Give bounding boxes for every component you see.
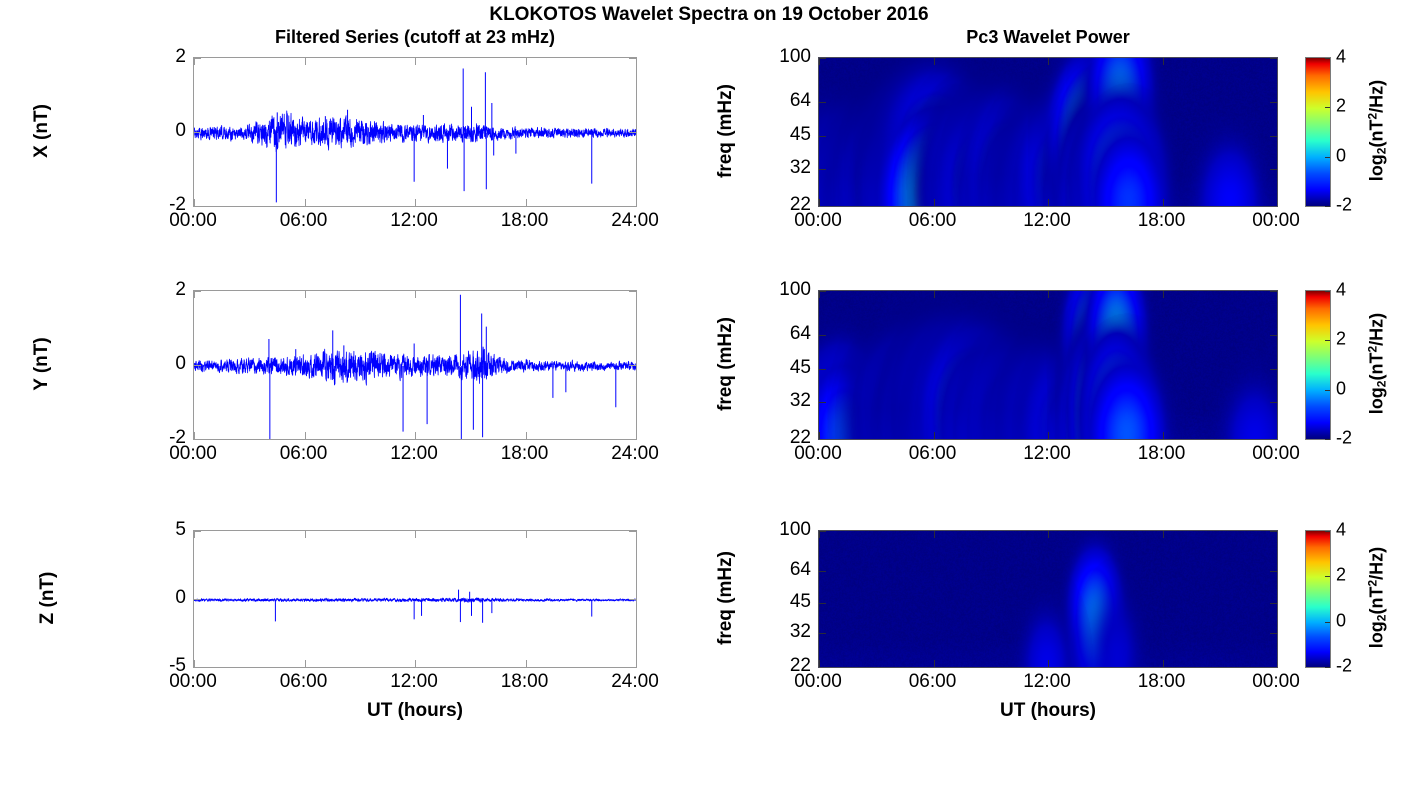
x-tick-mark [1163,199,1164,206]
y-tick-mark [1270,402,1277,403]
x-tick-label: 00:00 [1252,443,1300,465]
spectrogram-axes-x [818,57,1278,207]
x-tick-mark [1277,291,1278,298]
y-tick-mark [819,369,826,370]
colorbar-tick-mark [1325,340,1330,341]
x-tick-mark [819,58,820,65]
y-tick-label: -2 [141,194,186,216]
y-axis-label-z: Z (nT) [37,529,59,667]
figure-canvas: KLOKOTOS Wavelet Spectra on 19 October 2… [0,0,1418,788]
x-tick-mark [934,432,935,439]
x-tick-mark [1277,660,1278,667]
y-axis-label-y: Y (nT) [31,289,53,439]
x-axis-label-left: UT (hours) [193,700,637,722]
x-tick-mark [194,58,195,65]
timeseries-axes-z [193,530,637,668]
y-tick-mark [194,291,201,292]
y-tick-label: 2 [141,279,186,301]
freq-tick-label: 32 [758,157,811,179]
freq-tick-label: 32 [758,390,811,412]
x-tick-mark [934,660,935,667]
x-tick-mark [1048,291,1049,298]
y-tick-mark [629,531,636,532]
spectrogram-axes-y [818,290,1278,440]
timeseries-axes-x [193,57,637,207]
freq-tick-label: 45 [758,591,811,613]
freq-tick-label: 100 [758,519,811,541]
y-tick-mark [1270,439,1277,440]
y-tick-mark [819,633,826,634]
x-tick-mark [305,660,306,667]
colorbar-tick-label: 4 [1336,520,1346,541]
y-tick-label: 0 [141,587,186,609]
y-tick-mark [819,102,826,103]
x-tick-mark [934,531,935,538]
y-tick-mark [194,206,201,207]
colorbar-tick-mark [1325,439,1330,440]
x-tick-mark [636,660,637,667]
x-tick-mark [1277,199,1278,206]
x-tick-label: 18:00 [1138,210,1186,232]
x-tick-mark [526,531,527,538]
y-axis-label-x: X (nT) [31,56,53,206]
colorbar-tick-mark [1325,291,1330,292]
colorbar-y [1305,290,1331,440]
x-tick-label: 06:00 [909,443,957,465]
colorbar-tick-mark [1325,107,1330,108]
x-tick-mark [636,531,637,538]
y-tick-mark [194,132,201,133]
x-tick-mark [1048,199,1049,206]
spectrogram-image [819,58,1277,206]
freq-tick-label: 22 [758,655,811,677]
x-tick-mark [415,432,416,439]
freq-tick-label: 100 [758,46,811,68]
x-tick-mark [819,660,820,667]
x-tick-label: 12:00 [390,671,438,693]
y-tick-mark [819,603,826,604]
colorbar-tick-label: 0 [1336,378,1346,399]
freq-tick-label: 100 [758,279,811,301]
x-tick-mark [194,660,195,667]
x-tick-mark [305,432,306,439]
x-tick-mark [194,432,195,439]
y-tick-mark [1270,633,1277,634]
x-tick-label: 00:00 [1252,210,1300,232]
right-column-title: Pc3 Wavelet Power [818,27,1278,48]
y-tick-mark [819,291,826,292]
y-tick-label: 5 [141,519,186,541]
colorbar-tick-label: -2 [1336,428,1352,449]
x-tick-mark [1163,432,1164,439]
x-tick-mark [636,199,637,206]
x-tick-mark [636,291,637,298]
x-tick-mark [305,531,306,538]
x-tick-mark [1048,531,1049,538]
freq-tick-label: 22 [758,427,811,449]
x-tick-mark [415,531,416,538]
x-tick-mark [194,291,195,298]
y-tick-mark [629,667,636,668]
x-axis-label-right: UT (hours) [818,700,1278,722]
colorbar-tick-label: 4 [1336,47,1346,68]
colorbar-tick-mark [1325,58,1330,59]
y-tick-label: 2 [141,46,186,68]
freq-axis-label-x: freq (mHz) [715,56,737,206]
colorbar-z [1305,530,1331,668]
y-tick-mark [629,439,636,440]
x-tick-mark [1277,58,1278,65]
x-tick-label: 18:00 [1138,443,1186,465]
x-tick-mark [819,432,820,439]
x-tick-mark [526,660,527,667]
y-tick-mark [819,571,826,572]
x-tick-label: 12:00 [1023,443,1071,465]
x-tick-mark [1048,660,1049,667]
x-tick-mark [194,199,195,206]
y-tick-label: -5 [141,655,186,677]
x-tick-mark [415,291,416,298]
x-tick-mark [526,58,527,65]
x-tick-label: 12:00 [1023,210,1071,232]
y-tick-mark [819,667,826,668]
y-tick-mark [629,58,636,59]
x-tick-mark [194,531,195,538]
y-tick-mark [629,291,636,292]
freq-tick-label: 64 [758,90,811,112]
y-tick-mark [1270,335,1277,336]
x-tick-label: 24:00 [611,210,659,232]
x-tick-mark [1277,432,1278,439]
x-tick-mark [305,58,306,65]
y-tick-mark [1270,291,1277,292]
y-tick-mark [629,132,636,133]
x-tick-label: 00:00 [1252,671,1300,693]
x-tick-mark [819,531,820,538]
y-tick-mark [1270,603,1277,604]
colorbar-tick-mark [1325,157,1330,158]
x-tick-label: 24:00 [611,671,659,693]
timeseries-axes-y [193,290,637,440]
x-tick-mark [305,199,306,206]
freq-tick-label: 45 [758,357,811,379]
colorbar-tick-label: 0 [1336,145,1346,166]
y-tick-mark [629,206,636,207]
y-tick-mark [819,402,826,403]
freq-axis-label-y: freq (mHz) [715,289,737,439]
colorbar-tick-label: -2 [1336,656,1352,677]
y-tick-label: -2 [141,427,186,449]
x-tick-mark [1048,58,1049,65]
x-tick-mark [636,432,637,439]
x-tick-mark [1048,432,1049,439]
y-tick-mark [1270,136,1277,137]
spectrogram-axes-z [818,530,1278,668]
colorbar-label-z: log2(nT2/Hz) [1367,529,1388,667]
x-tick-label: 06:00 [909,210,957,232]
x-tick-mark [305,291,306,298]
x-tick-label: 12:00 [390,443,438,465]
y-tick-mark [1270,531,1277,532]
x-tick-label: 24:00 [611,443,659,465]
colorbar-tick-label: 2 [1336,565,1346,586]
y-tick-mark [1270,571,1277,572]
y-tick-mark [1270,667,1277,668]
x-tick-mark [415,199,416,206]
x-tick-mark [819,291,820,298]
x-tick-mark [934,199,935,206]
x-tick-mark [415,660,416,667]
freq-axis-label-z: freq (mHz) [715,529,737,667]
colorbar-tick-mark [1325,667,1330,668]
colorbar-tick-mark [1325,622,1330,623]
y-tick-mark [1270,206,1277,207]
y-tick-mark [1270,169,1277,170]
spectrogram-image [819,291,1277,439]
x-tick-mark [1163,58,1164,65]
colorbar-tick-label: 4 [1336,280,1346,301]
colorbar-tick-mark [1325,576,1330,577]
figure-title: KLOKOTOS Wavelet Spectra on 19 October 2… [0,4,1418,26]
x-tick-label: 06:00 [280,671,328,693]
x-tick-mark [934,291,935,298]
freq-tick-label: 64 [758,559,811,581]
colorbar-tick-label: 2 [1336,329,1346,350]
colorbar-tick-mark [1325,390,1330,391]
y-tick-mark [1270,58,1277,59]
colorbar-tick-label: 0 [1336,610,1346,631]
y-tick-mark [629,599,636,600]
x-tick-mark [1163,531,1164,538]
y-tick-mark [194,58,201,59]
colorbar-label-y: log2(nT2/Hz) [1367,289,1388,439]
x-tick-mark [636,58,637,65]
freq-tick-label: 45 [758,124,811,146]
x-tick-label: 06:00 [280,210,328,232]
colorbar-tick-label: 2 [1336,96,1346,117]
colorbar-tick-mark [1325,531,1330,532]
y-tick-mark [819,335,826,336]
freq-tick-label: 32 [758,621,811,643]
x-tick-mark [526,432,527,439]
x-tick-label: 18:00 [501,443,549,465]
spectrogram-image [819,531,1277,667]
y-tick-mark [1270,102,1277,103]
y-tick-mark [819,439,826,440]
freq-tick-label: 64 [758,323,811,345]
x-tick-label: 18:00 [501,210,549,232]
y-tick-label: 0 [141,120,186,142]
y-tick-mark [194,667,201,668]
x-tick-mark [526,291,527,298]
y-tick-mark [819,136,826,137]
y-tick-mark [194,365,201,366]
x-tick-mark [819,199,820,206]
x-tick-label: 06:00 [280,443,328,465]
y-tick-mark [819,206,826,207]
x-tick-label: 12:00 [390,210,438,232]
x-tick-label: 18:00 [1138,671,1186,693]
freq-tick-label: 22 [758,194,811,216]
x-tick-mark [1277,531,1278,538]
x-tick-mark [1163,660,1164,667]
colorbar-tick-label: -2 [1336,195,1352,216]
left-column-title: Filtered Series (cutoff at 23 mHz) [193,27,637,48]
colorbar-x [1305,57,1331,207]
y-tick-mark [194,531,201,532]
y-tick-mark [629,365,636,366]
x-tick-label: 06:00 [909,671,957,693]
y-tick-label: 0 [141,353,186,375]
y-tick-mark [819,58,826,59]
y-tick-mark [819,531,826,532]
y-tick-mark [194,439,201,440]
colorbar-label-x: log2(nT2/Hz) [1367,56,1388,206]
x-tick-mark [934,58,935,65]
x-tick-mark [1163,291,1164,298]
colorbar-tick-mark [1325,206,1330,207]
x-tick-mark [526,199,527,206]
x-tick-mark [415,58,416,65]
y-tick-mark [1270,369,1277,370]
x-tick-label: 12:00 [1023,671,1071,693]
y-tick-mark [194,599,201,600]
x-tick-label: 18:00 [501,671,549,693]
y-tick-mark [819,169,826,170]
